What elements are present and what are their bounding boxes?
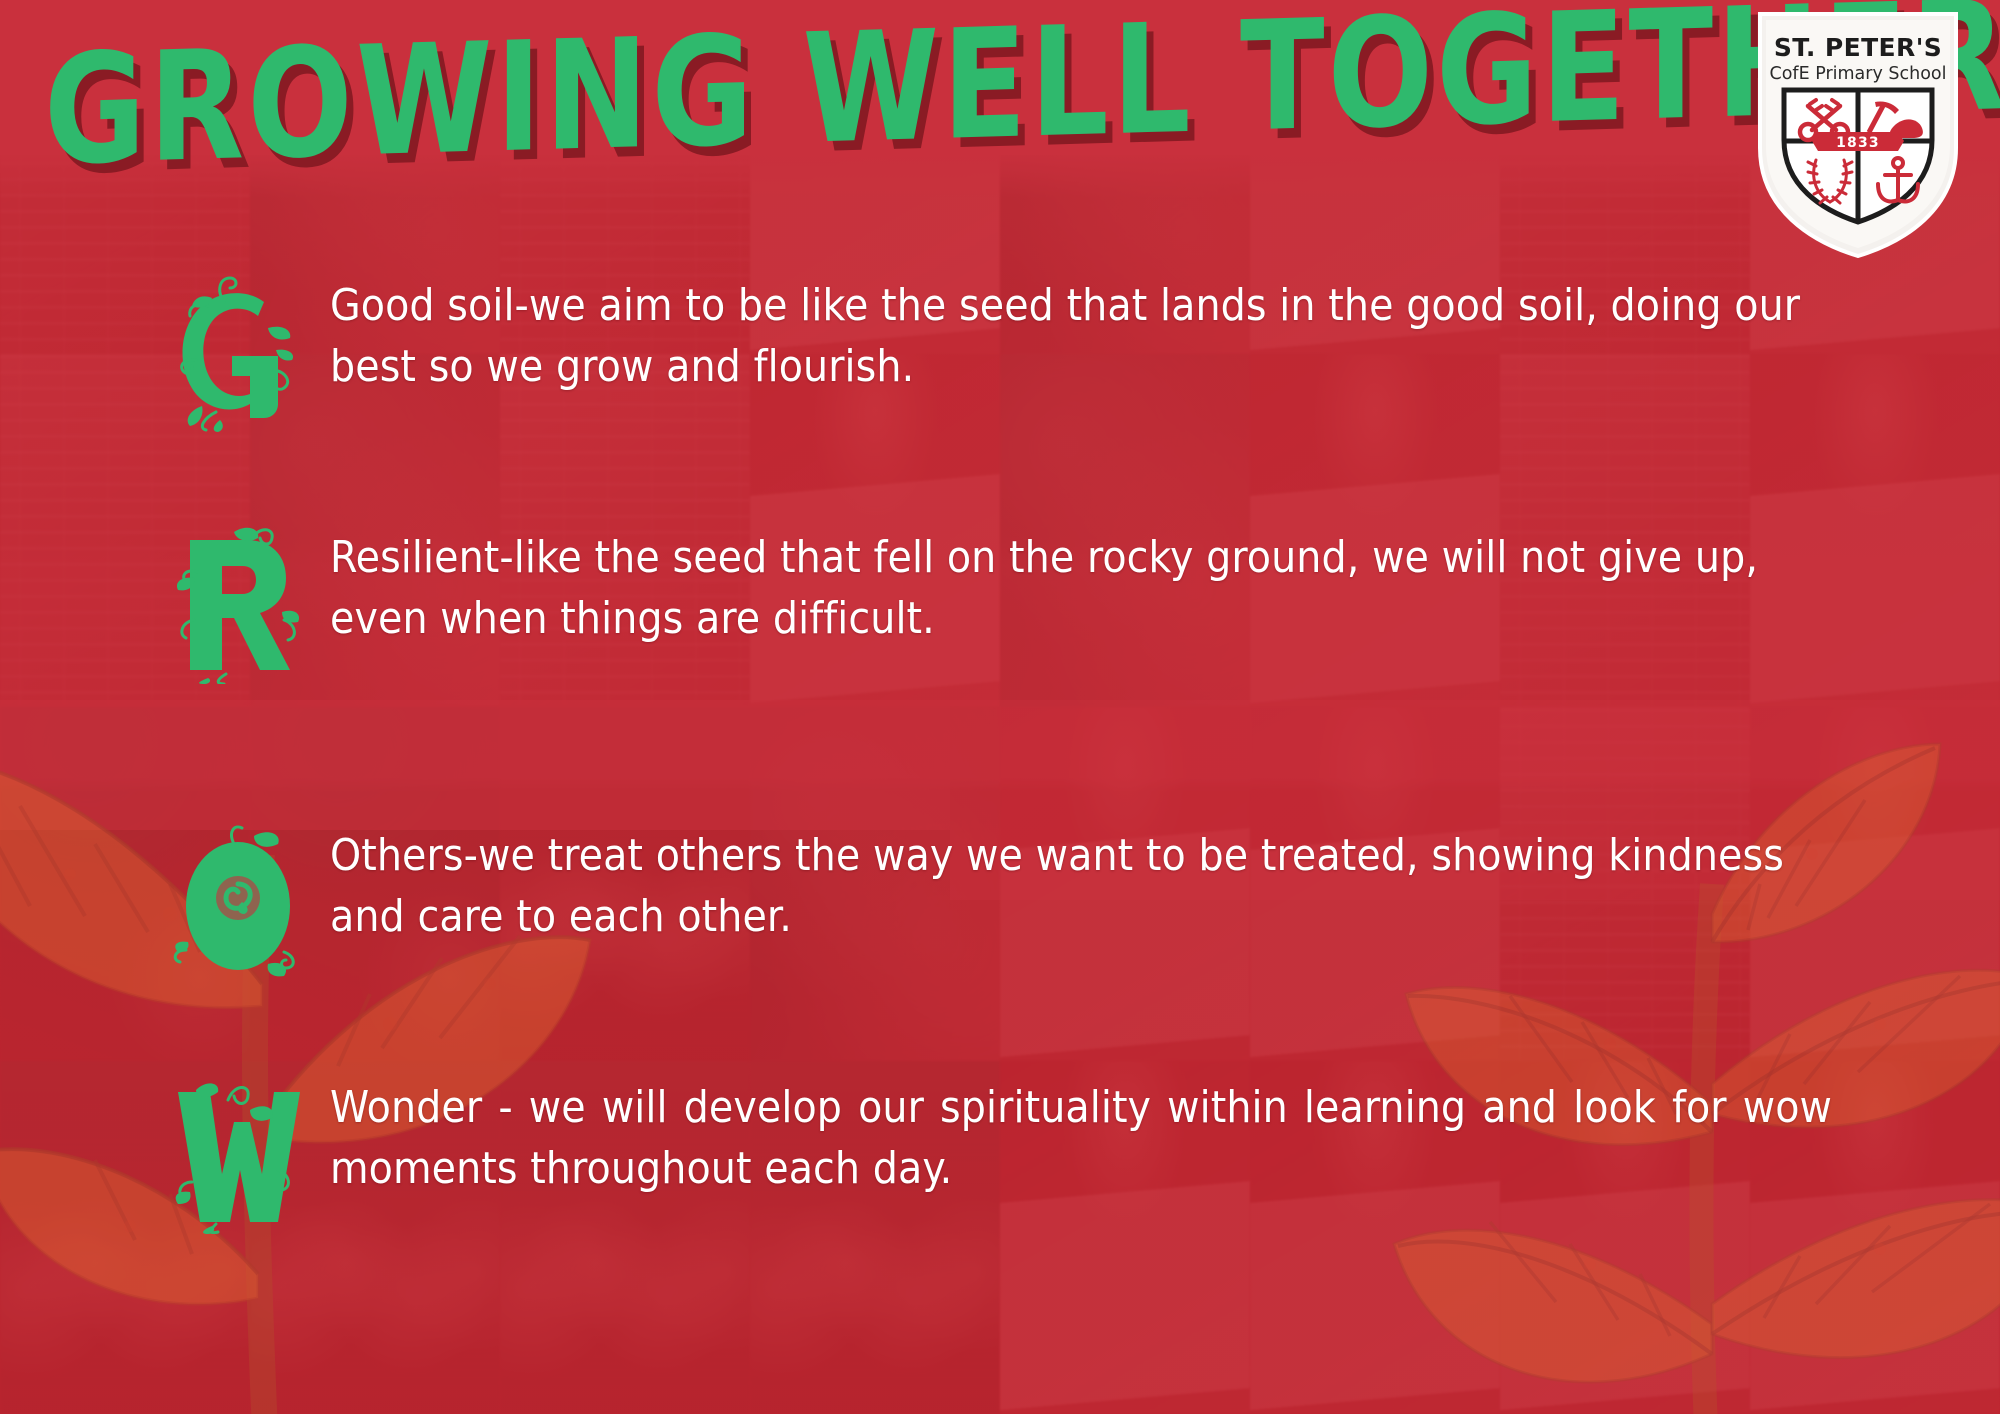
value-row-wonder: Wonder - we will develop our spiritualit… <box>0 1078 2000 1264</box>
decorative-letter-o-icon <box>172 822 304 982</box>
value-text-resilient: Resilient-like the seed that fell on the… <box>330 528 1832 649</box>
value-row-good-soil: Good soil-we aim to be like the seed tha… <box>0 276 2000 462</box>
crest-school-subtitle: CofE Primary School <box>1770 64 1947 84</box>
decorative-letter-g-icon <box>172 272 304 432</box>
decorative-letter-r-icon <box>172 524 304 684</box>
value-row-others: Others-we treat others the way we want t… <box>0 826 2000 1012</box>
crest-school-name: ST. PETER'S <box>1774 33 1942 62</box>
value-text-wonder: Wonder - we will develop our spiritualit… <box>330 1078 1832 1199</box>
crest-year-banner: 1833 <box>1812 132 1904 151</box>
crest-year: 1833 <box>1836 135 1880 151</box>
value-text-good-soil: Good soil-we aim to be like the seed tha… <box>330 276 1832 397</box>
school-crest-logo: ST. PETER'S CofE Primary School <box>1752 8 1964 258</box>
decorative-letter-w-icon <box>172 1074 304 1234</box>
growing-well-together-poster: GROWING WELL TOGETHER! ST. PETER'S CofE … <box>0 0 2000 1414</box>
inner-swirl <box>216 876 260 920</box>
value-row-resilient: Resilient-like the seed that fell on the… <box>0 528 2000 714</box>
value-text-others: Others-we treat others the way we want t… <box>330 826 1832 947</box>
values-list: Good soil-we aim to be like the seed tha… <box>0 272 2000 1330</box>
